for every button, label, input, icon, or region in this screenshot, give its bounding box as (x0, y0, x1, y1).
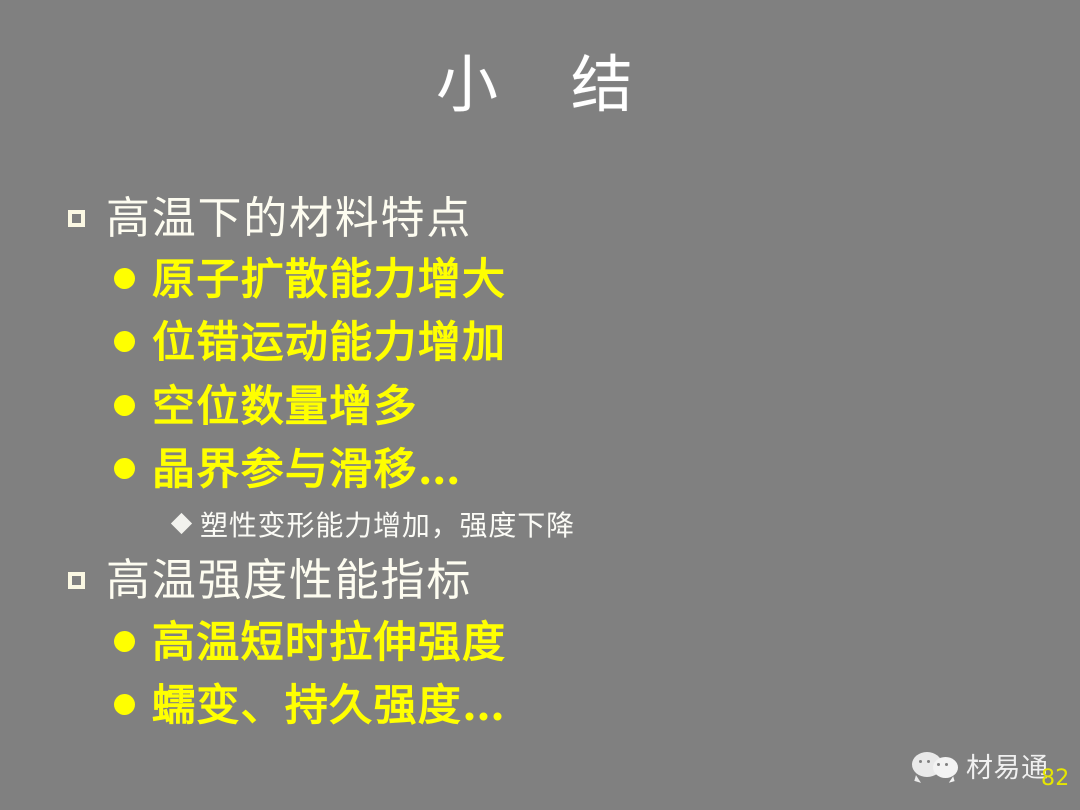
list-item-label: 晶界参与滑移… (152, 439, 462, 502)
circle-bullet-icon (114, 458, 152, 483)
list-item-level2[interactable]: 高温短时拉伸强度 (56, 612, 1056, 675)
wechat-icon (912, 752, 958, 784)
list-item-label: 高温短时拉伸强度 (152, 612, 506, 675)
circle-bullet-icon (114, 268, 152, 293)
circle-bullet-icon (114, 631, 152, 656)
list-item-level2[interactable]: 空位数量增多 (56, 376, 1056, 439)
list-item-label: 空位数量增多 (152, 376, 418, 439)
circle-bullet-icon (114, 331, 152, 356)
list-item-level3[interactable]: 塑性变形能力增加，强度下降 (56, 508, 1056, 544)
list-item-label: 塑性变形能力增加，强度下降 (200, 508, 575, 544)
square-bullet-icon (68, 210, 106, 231)
list-item-label: 原子扩散能力增大 (152, 249, 506, 312)
outline-list: 高温下的材料特点 原子扩散能力增大 位错运动能力增加 空位数量增多 晶界参与滑移… (56, 190, 1056, 738)
list-item-label: 位错运动能力增加 (152, 312, 506, 375)
square-bullet-icon (68, 572, 106, 593)
list-item-level2[interactable]: 蠕变、持久强度… (56, 675, 1056, 738)
list-item-label: 高温强度性能指标 (106, 552, 472, 609)
circle-bullet-icon (114, 395, 152, 420)
page-number: 82 (1041, 768, 1069, 790)
list-item-level2[interactable]: 位错运动能力增加 (56, 312, 1056, 375)
list-item-label: 蠕变、持久强度… (152, 675, 506, 738)
list-item-level2[interactable]: 原子扩散能力增大 (56, 249, 1056, 312)
watermark: 材易通 (912, 752, 1049, 784)
list-item-label: 高温下的材料特点 (106, 190, 472, 247)
list-item-level1[interactable]: 高温强度性能指标 (56, 552, 1056, 609)
list-item-level2[interactable]: 晶界参与滑移… (56, 439, 1056, 502)
presentation-slide: 小 结 高温下的材料特点 原子扩散能力增大 位错运动能力增加 空位数量增多 晶界… (0, 0, 1080, 810)
list-item-level1[interactable]: 高温下的材料特点 (56, 190, 1056, 247)
page-title: 小 结 (0, 52, 1080, 117)
watermark-label: 材易通 (966, 755, 1049, 782)
diamond-bullet-icon (174, 516, 200, 535)
circle-bullet-icon (114, 694, 152, 719)
